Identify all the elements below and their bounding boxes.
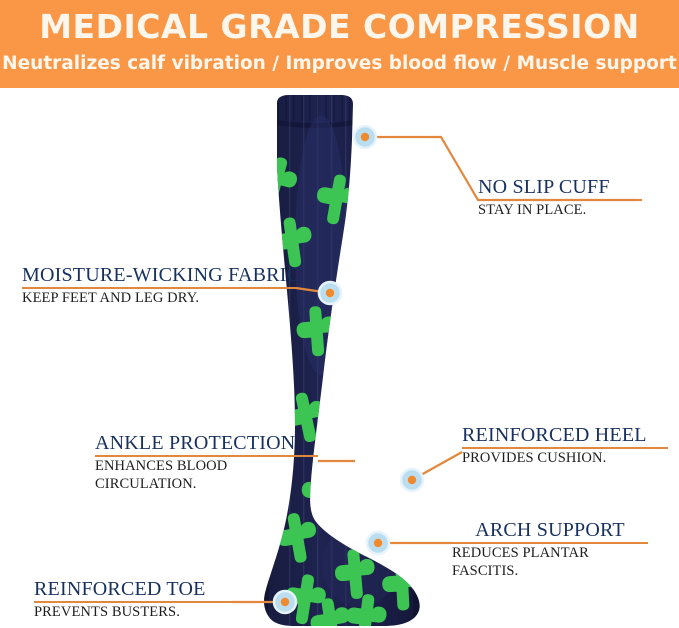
callout-rule-no-slip-cuff (478, 199, 642, 201)
callout-rule-reinforced-heel (462, 447, 668, 449)
callout-reinforced-toe: REINFORCED TOE PREVENTS BUSTERS. (34, 578, 232, 621)
callout-subtitle-reinforced-heel: PROVIDES CUSHION. (462, 450, 668, 467)
callout-no-slip-cuff: NO SLIP CUFF STAY IN PLACE. (478, 176, 642, 219)
header-banner: MEDICAL GRADE COMPRESSION Neutralizes ca… (0, 0, 679, 88)
callout-rule-reinforced-toe (34, 601, 232, 603)
banner-divider (0, 88, 679, 92)
banner-subtitle: Neutralizes calf vibration / Improves bl… (0, 52, 679, 76)
callout-subtitle-no-slip-cuff: STAY IN PLACE. (478, 202, 642, 219)
callout-title-moisture-wicking-fabric: MOISTURE-WICKING FABRIC (22, 264, 296, 287)
callout-moisture-wicking-fabric: MOISTURE-WICKING FABRIC KEEP FEET AND LE… (22, 264, 296, 307)
banner-title: MEDICAL GRADE COMPRESSION (0, 7, 679, 47)
product-feature-infographic: MEDICAL GRADE COMPRESSION Neutralizes ca… (0, 0, 679, 628)
callout-rule-moisture-wicking-fabric (22, 287, 296, 289)
callout-subtitle-reinforced-toe: PREVENTS BUSTERS. (34, 604, 232, 621)
callout-title-arch-support: ARCH SUPPORT (452, 519, 648, 542)
callout-rule-ankle-protection (95, 455, 318, 457)
callout-subtitle-arch-support-line1: REDUCES PLANTAR (452, 545, 648, 562)
callout-arch-support: ARCH SUPPORT REDUCES PLANTAR FASCITIS. (452, 519, 648, 580)
callout-subtitle-ankle-protection-line2: CIRCULATION. (95, 476, 318, 493)
callout-subtitle-moisture-wicking-fabric: KEEP FEET AND LEG DRY. (22, 290, 296, 307)
callout-subtitle-ankle-protection-line1: ENHANCES BLOOD (95, 458, 318, 475)
callout-rule-arch-support (452, 542, 648, 544)
callout-title-reinforced-toe: REINFORCED TOE (34, 578, 232, 601)
callout-reinforced-heel: REINFORCED HEEL PROVIDES CUSHION. (462, 424, 668, 467)
callout-subtitle-arch-support-line2: FASCITIS. (452, 563, 648, 580)
callout-title-reinforced-heel: REINFORCED HEEL (462, 424, 668, 447)
sock-illustration (255, 95, 440, 628)
callout-ankle-protection: ANKLE PROTECTION ENHANCES BLOOD CIRCULAT… (95, 432, 318, 493)
callout-title-ankle-protection: ANKLE PROTECTION (95, 432, 318, 455)
callout-title-no-slip-cuff: NO SLIP CUFF (478, 176, 642, 199)
